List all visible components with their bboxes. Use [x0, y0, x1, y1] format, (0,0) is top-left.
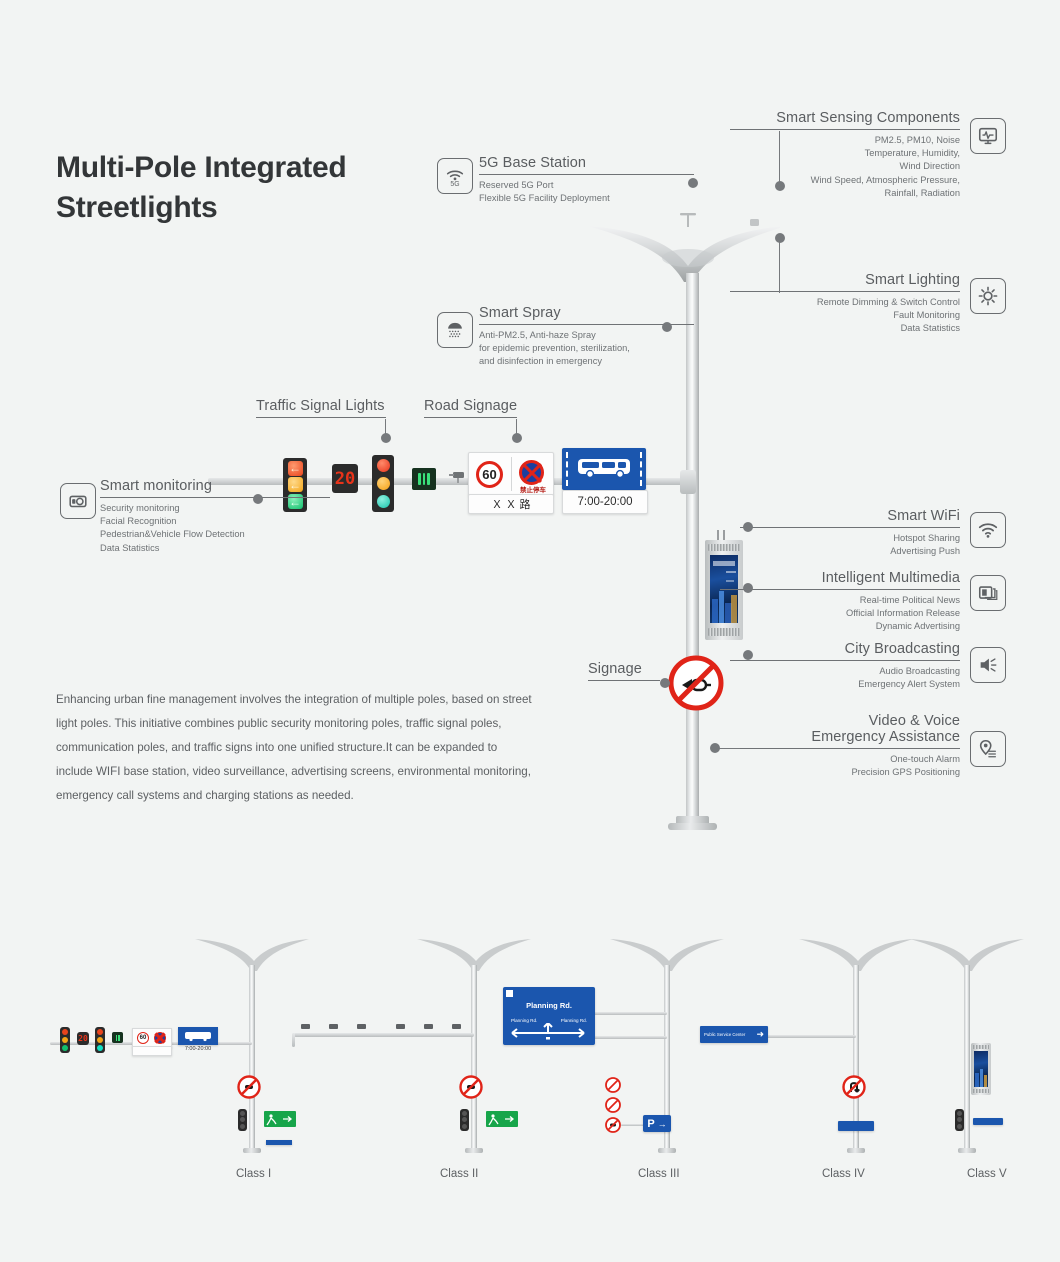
pole-base: [658, 1148, 676, 1153]
sign-mount-arm: [758, 1035, 856, 1038]
class-4-label: Class IV: [822, 1168, 865, 1180]
connector-dot: [660, 678, 670, 688]
speed-limit-sign: 60: [137, 1032, 149, 1044]
arm-end-bracket: [292, 1033, 295, 1047]
bus-lane-sign: [178, 1027, 218, 1045]
connector-dot: [775, 181, 785, 191]
callout-sub-3: Wind Speed, Atmospheric Pressure,: [730, 174, 960, 187]
bus-icon: [576, 457, 632, 481]
no-parking-label: 禁止停车: [517, 484, 549, 494]
connector-dot: [381, 433, 391, 443]
callout-heading: City Broadcasting: [730, 641, 960, 657]
pedestrian-signal-housing: [238, 1109, 247, 1131]
callout-sub-1: Fault Monitoring: [730, 309, 960, 322]
wifi-5g-icon: 5G: [437, 158, 473, 194]
callout-smart-sensing: Smart Sensing Components PM2.5, PM10, No…: [730, 110, 960, 200]
callout-intelligent-multimedia: Intelligent Multimedia Real-time Politic…: [720, 570, 960, 634]
location-pin-icon: [970, 731, 1006, 767]
connector-dot: [743, 650, 753, 660]
prohibition-sign-1: [605, 1077, 621, 1093]
sign-divider: [511, 457, 512, 491]
speed-limit-value: 60: [482, 467, 496, 482]
pole-base: [465, 1148, 483, 1153]
direction-arrows-icon: [508, 1023, 590, 1043]
callout-sub-0: Remote Dimming & Switch Control: [730, 296, 960, 309]
callout-rule: [720, 589, 960, 590]
public-service-label: Public Service Center: [704, 1032, 745, 1037]
vent-top: [708, 544, 740, 551]
callout-sub-1: Facial Recognition: [100, 515, 330, 528]
callout-sub-4: Rainfall, Radiation: [730, 187, 960, 200]
callout-sub-3: Data Statistics: [100, 542, 330, 555]
bus-icon: [184, 1031, 212, 1042]
multimedia-screen: [974, 1051, 988, 1087]
callout-rule: [720, 748, 960, 749]
sun-icon: [970, 278, 1006, 314]
callout-sub-1: Temperature, Humidity,: [730, 147, 960, 160]
pole-camera-icon: [447, 468, 469, 486]
bus-lane-time-value: 7:00-20:00: [578, 496, 633, 508]
lane-indicator-display: [412, 468, 436, 490]
bus-lane-time-sign: 7:00-20:00: [562, 490, 648, 514]
regulatory-sign-board: 60 禁止停车: [468, 452, 554, 496]
parking-sign-arm: [621, 1124, 645, 1126]
description-paragraph: Enhancing urban fine management involves…: [56, 688, 536, 809]
vent-bottom: [973, 1089, 989, 1093]
lane-bar: [423, 473, 426, 485]
red-lamp: [377, 459, 390, 472]
speaker-glyph: [977, 654, 999, 676]
wifi-glyph: [977, 519, 999, 541]
class-2-label: Class II: [440, 1168, 478, 1180]
pole-base: [958, 1148, 976, 1153]
pole-shaft: [471, 965, 477, 1150]
callout-sub-1: Flexible 5G Facility Deployment: [479, 192, 694, 205]
countdown-value: 20: [78, 1034, 88, 1043]
callout-5g-base-station: 5G Base Station Reserved 5G Port Flexibl…: [479, 155, 694, 205]
no-honking-sign: [605, 1117, 621, 1133]
callout-smart-monitoring: Smart monitoring Security monitoring Fac…: [100, 478, 330, 555]
sign-mount-lower: [591, 1036, 667, 1039]
class-4-illustration: Public Service Center ➜: [690, 925, 920, 1160]
callout-city-broadcasting: City Broadcasting Audio Broadcasting Eme…: [730, 641, 960, 691]
traffic-light-arrow-housing: [60, 1027, 70, 1053]
callout-sub-0: One-touch Alarm: [720, 753, 960, 766]
callout-sub-0: Hotspot Sharing: [740, 532, 960, 545]
arm-collar: [680, 470, 696, 494]
callout-smart-wifi: Smart WiFi Hotspot Sharing Advertising P…: [740, 508, 960, 558]
no-parking-sign: [519, 460, 544, 485]
callout-sub-1: Advertising Push: [740, 545, 960, 558]
wifi-icon: [970, 512, 1006, 548]
lane-bar: [427, 473, 430, 485]
callout-emergency-assistance: Video & Voice Emergency Assistance One-t…: [720, 713, 960, 779]
callout-heading: Smart Spray: [479, 305, 694, 321]
sign-mount-upper: [591, 1012, 667, 1015]
sign-corner-marker: [506, 990, 513, 997]
pedestrian-signal-housing: [955, 1109, 964, 1131]
callout-sub-0: PM2.5, PM10, Noise: [730, 134, 960, 147]
road-name-value: Ｘ Ｘ 路: [491, 496, 530, 512]
right-arrow-icon: ➜: [756, 1030, 764, 1039]
bus-lane-time-label: 7:00-20:00: [178, 1046, 218, 1052]
callout-rule: [588, 680, 660, 681]
title-line-2: Streetlights: [56, 188, 476, 228]
callout-rule: [730, 129, 960, 130]
callout-rule: [100, 497, 330, 498]
connector-dot: [512, 433, 522, 443]
callout-heading: Smart Lighting: [730, 272, 960, 288]
connector-dot: [743, 583, 753, 593]
traffic-light-round-housing: [372, 455, 394, 512]
connector-dot: [775, 233, 785, 243]
connector-dot: [662, 322, 672, 332]
screens-glyph: [977, 582, 999, 604]
no-parking-sign: [154, 1032, 166, 1044]
callout-sub-1: for epidemic prevention, sterilization,: [479, 342, 694, 355]
title-line-1: Multi-Pole Integrated: [56, 148, 476, 188]
lane-indicator-display: [112, 1032, 123, 1043]
callout-sub-0: Real-time Political News: [720, 594, 960, 607]
callout-sub-0: Audio Broadcasting: [730, 665, 960, 678]
parking-letter: P: [647, 1118, 654, 1130]
sun-glyph: [977, 285, 999, 307]
left-arrow-red-lamp: ←: [288, 461, 303, 476]
bus-lane-sign: [562, 448, 646, 490]
pedestrian-signal-housing: [460, 1109, 469, 1131]
callout-sub-2: Data Statistics: [730, 322, 960, 335]
class-3-label: Class III: [638, 1168, 680, 1180]
camera-glyph: [67, 490, 89, 512]
callout-rule: [424, 417, 517, 418]
speaker-icon: [970, 647, 1006, 683]
connector-dot: [710, 743, 720, 753]
callout-heading: 5G Base Station: [479, 155, 694, 171]
callout-sub-2: Pedestrian&Vehicle Flow Detection: [100, 528, 330, 541]
callout-sub-2: Wind Direction: [730, 160, 960, 173]
callout-rule: [256, 417, 386, 418]
regulatory-sign-board: 60: [132, 1028, 172, 1048]
callout-smart-lighting: Smart Lighting Remote Dimming & Switch C…: [730, 272, 960, 336]
no-honking-sign: [237, 1075, 261, 1099]
callout-traffic-signal-lights: Traffic Signal Lights: [256, 398, 426, 422]
camera-icon: [60, 483, 96, 519]
connector-dot: [253, 494, 263, 504]
connector-dot: [688, 178, 698, 188]
planning-rd-main-label: Planning Rd.: [503, 1001, 595, 1010]
spray-shower-glyph: [444, 319, 466, 341]
green-lamp: [377, 495, 390, 508]
monitor-waveform-glyph: [977, 125, 999, 147]
vent-top: [973, 1045, 989, 1049]
class-1-illustration: 20 60 7:00-20:00: [40, 925, 270, 1160]
location-pin-glyph: [977, 738, 999, 760]
parking-arrow-icon: →: [658, 1119, 667, 1129]
callout-sub-0: Anti-PM2.5, Anti-haze Spray: [479, 329, 694, 342]
info-strip-sign: [838, 1121, 874, 1131]
connector-dot: [743, 522, 753, 532]
callout-sub-0: Reserved 5G Port: [479, 179, 694, 192]
no-u-turn-sign: [842, 1075, 866, 1099]
callout-heading: Smart monitoring: [100, 478, 330, 494]
callout-signage: Signage: [588, 661, 698, 685]
callout-heading: Road Signage: [424, 398, 574, 414]
callout-smart-spray: Smart Spray Anti-PM2.5, Anti-haze Spray …: [479, 305, 694, 369]
wifi-5g-glyph: 5G: [444, 165, 466, 187]
road-name-sign: [132, 1046, 172, 1056]
callout-heading: Intelligent Multimedia: [720, 570, 960, 586]
speed-limit-value: 60: [140, 1035, 147, 1041]
callout-heading: Smart WiFi: [740, 508, 960, 524]
info-strip-sign: [973, 1118, 1003, 1125]
pole-shaft: [964, 965, 970, 1150]
pole-shaft: [249, 965, 255, 1150]
traffic-light-round-housing: [95, 1027, 105, 1053]
camera-array-icon: [296, 1021, 476, 1035]
lane-bar: [418, 473, 421, 485]
callout-rule: [730, 291, 960, 292]
callout-rule: [479, 174, 694, 175]
callout-heading: Traffic Signal Lights: [256, 398, 426, 414]
yellow-lamp: [377, 477, 390, 490]
callout-road-signage: Road Signage: [424, 398, 574, 422]
countdown-timer-display: 20: [332, 464, 358, 493]
callout-rule: [730, 660, 960, 661]
callout-rule: [740, 527, 960, 528]
callout-heading: Smart Sensing Components: [730, 110, 960, 126]
callout-heading-line-1: Video & Voice: [720, 713, 960, 729]
monitor-waveform-icon: [970, 118, 1006, 154]
callout-sub-1: Emergency Alert System: [730, 678, 960, 691]
no-honking-sign: [459, 1075, 483, 1099]
direction-sign-board: Planning Rd. Planning Rd. Planning Rd.: [503, 987, 595, 1045]
callout-sub-1: Official Information Release: [720, 607, 960, 620]
prohibition-sign-2: [605, 1097, 621, 1113]
pole-foundation: [668, 823, 717, 830]
class-5-illustration: [895, 925, 1060, 1160]
public-service-sign: Public Service Center ➜: [700, 1026, 768, 1043]
callout-sub-1: Precision GPS Positioning: [720, 766, 960, 779]
callout-sub-2: Dynamic Advertising: [720, 620, 960, 633]
connector-line: [779, 240, 780, 293]
countdown-value: 20: [335, 469, 355, 489]
speed-limit-sign: 60: [476, 461, 503, 488]
class-2-illustration: [280, 925, 510, 1160]
pole-base: [847, 1148, 865, 1153]
svg-text:5G: 5G: [450, 181, 459, 187]
class-1-label: Class I: [236, 1168, 271, 1180]
callout-heading-line-2: Emergency Assistance: [720, 729, 960, 745]
callout-heading: Signage: [588, 661, 698, 677]
connector-line: [779, 131, 780, 183]
pole-base: [243, 1148, 261, 1153]
callout-sub-2: and disinfection in emergency: [479, 355, 694, 368]
multimedia-display-unit: [971, 1043, 991, 1095]
road-name-sign: Ｘ Ｘ 路: [468, 494, 554, 514]
countdown-timer-display: 20: [77, 1032, 89, 1045]
page-title: Multi-Pole Integrated Streetlights: [56, 148, 476, 227]
spray-shower-icon: [437, 312, 473, 348]
parking-sign: P →: [643, 1115, 671, 1132]
antenna-left: [717, 530, 719, 540]
antenna-right: [723, 530, 725, 540]
callout-sub-0: Security monitoring: [100, 502, 330, 515]
screens-icon: [970, 575, 1006, 611]
class-5-label: Class V: [967, 1168, 1007, 1180]
